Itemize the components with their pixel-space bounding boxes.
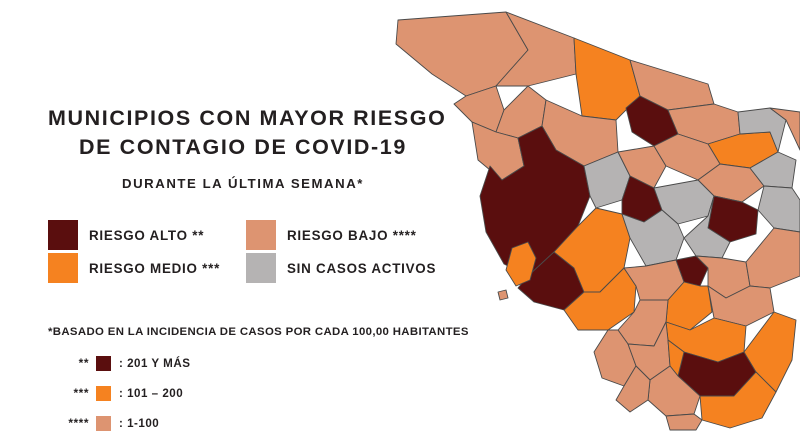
footnote-range-medio: : 101 – 200 [119, 387, 183, 400]
municipality-layer [396, 12, 800, 430]
footnote-swatch-alto [96, 356, 111, 371]
legend-label-alto: RIESGO ALTO ** [89, 228, 204, 243]
legend-item-riesgo-medio: RIESGO MEDIO *** [48, 253, 246, 283]
footnote-stars: **** [48, 416, 96, 430]
footnote-range-alto: : 201 Y MÁS [119, 357, 190, 370]
map-svg [378, 0, 800, 432]
island-small [498, 290, 508, 300]
municipality [666, 414, 702, 430]
infographic-canvas: MUNICIPIOS CON MAYOR RIESGO DE CONTAGIO … [0, 0, 800, 432]
footnote-swatch-bajo [96, 416, 111, 431]
legend-item-riesgo-alto: RIESGO ALTO ** [48, 220, 246, 250]
sonora-choropleth-map [378, 0, 800, 432]
footnote-stars: *** [48, 386, 96, 400]
footnote-stars: ** [48, 356, 96, 370]
legend-swatch-alto [48, 220, 78, 250]
legend-swatch-medio [48, 253, 78, 283]
legend-label-medio: RIESGO MEDIO *** [89, 261, 220, 276]
municipality [746, 228, 800, 288]
municipality [758, 186, 800, 232]
footnote-range-bajo: : 1-100 [119, 417, 159, 430]
footnote-swatch-medio [96, 386, 111, 401]
legend-swatch-sin-casos [246, 253, 276, 283]
legend-swatch-bajo [246, 220, 276, 250]
